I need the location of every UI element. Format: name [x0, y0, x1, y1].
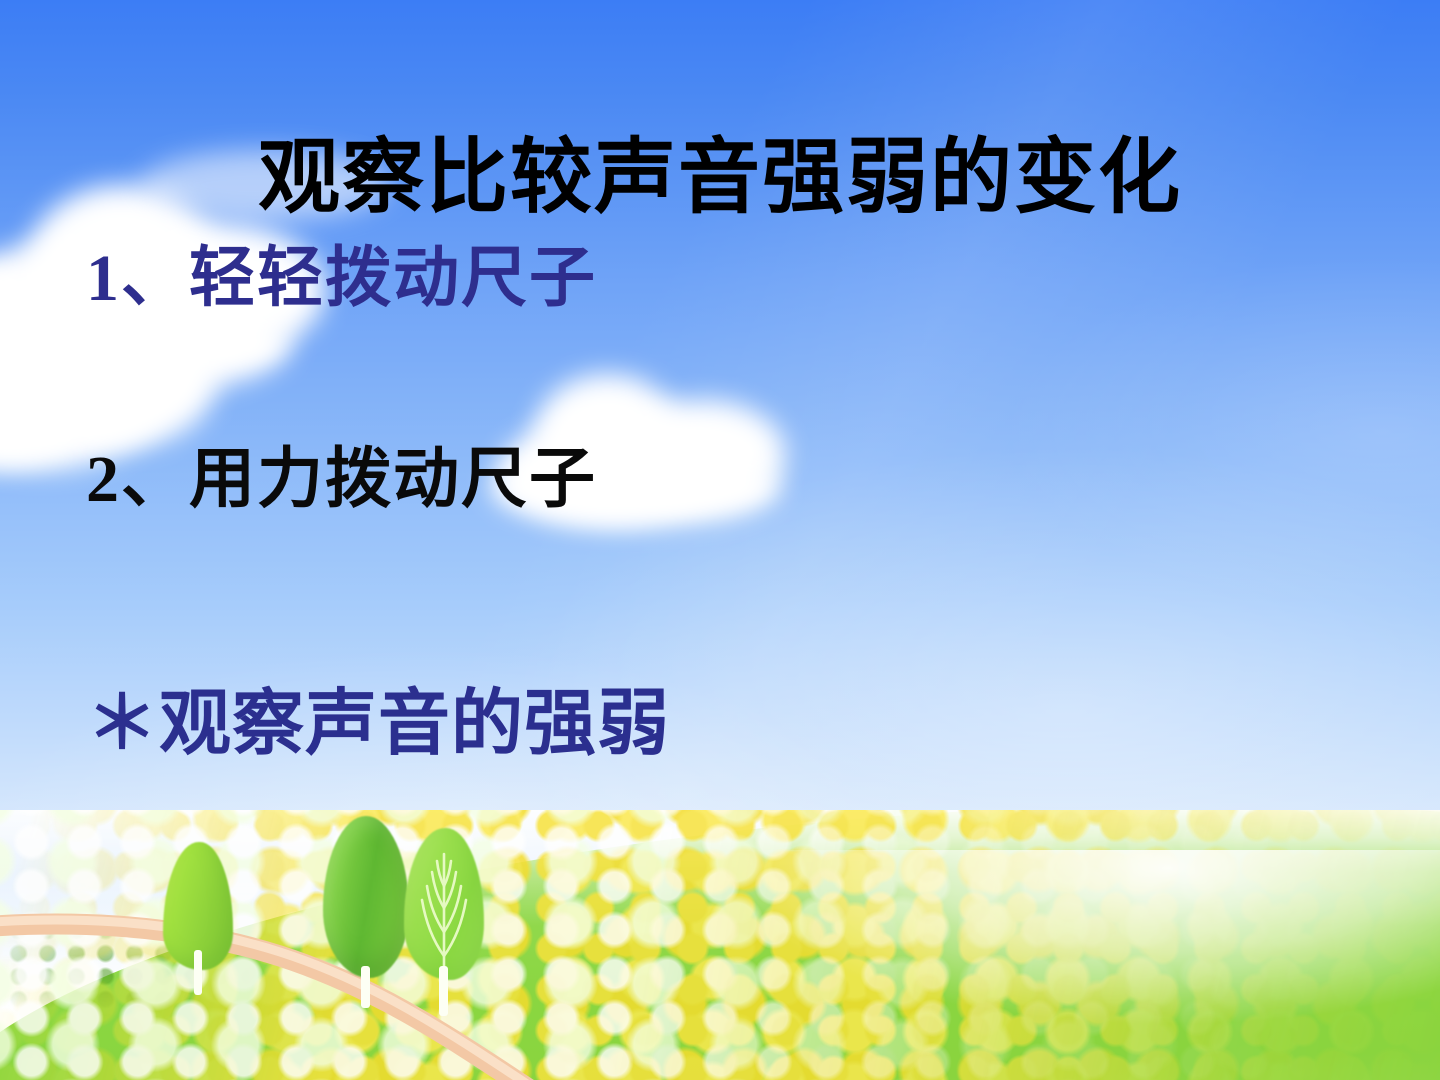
tree-icon-left — [163, 842, 233, 992]
presentation-slide: 观察比较声音强弱的变化 1、轻轻拨动尺子 2、用力拨动尺子 ＊观察声音的强弱 — [0, 0, 1440, 1080]
tree-crown — [323, 816, 409, 978]
body-line-3: ＊观察声音的强弱 — [86, 688, 670, 760]
tree-icon-right — [404, 828, 484, 1004]
tree-trunk — [439, 966, 448, 1016]
page-title: 观察比较声音强弱的变化 — [0, 137, 1440, 219]
body-line-1: 1、轻轻拨动尺子 — [86, 246, 597, 312]
tree-icon-middle — [323, 816, 409, 996]
grass-mist-right — [660, 850, 1440, 1080]
tree-trunk — [194, 950, 202, 995]
tree-trunk — [361, 966, 370, 1008]
tree-vein-lines — [404, 828, 484, 988]
body-line-2: 2、用力拨动尺子 — [86, 447, 597, 513]
